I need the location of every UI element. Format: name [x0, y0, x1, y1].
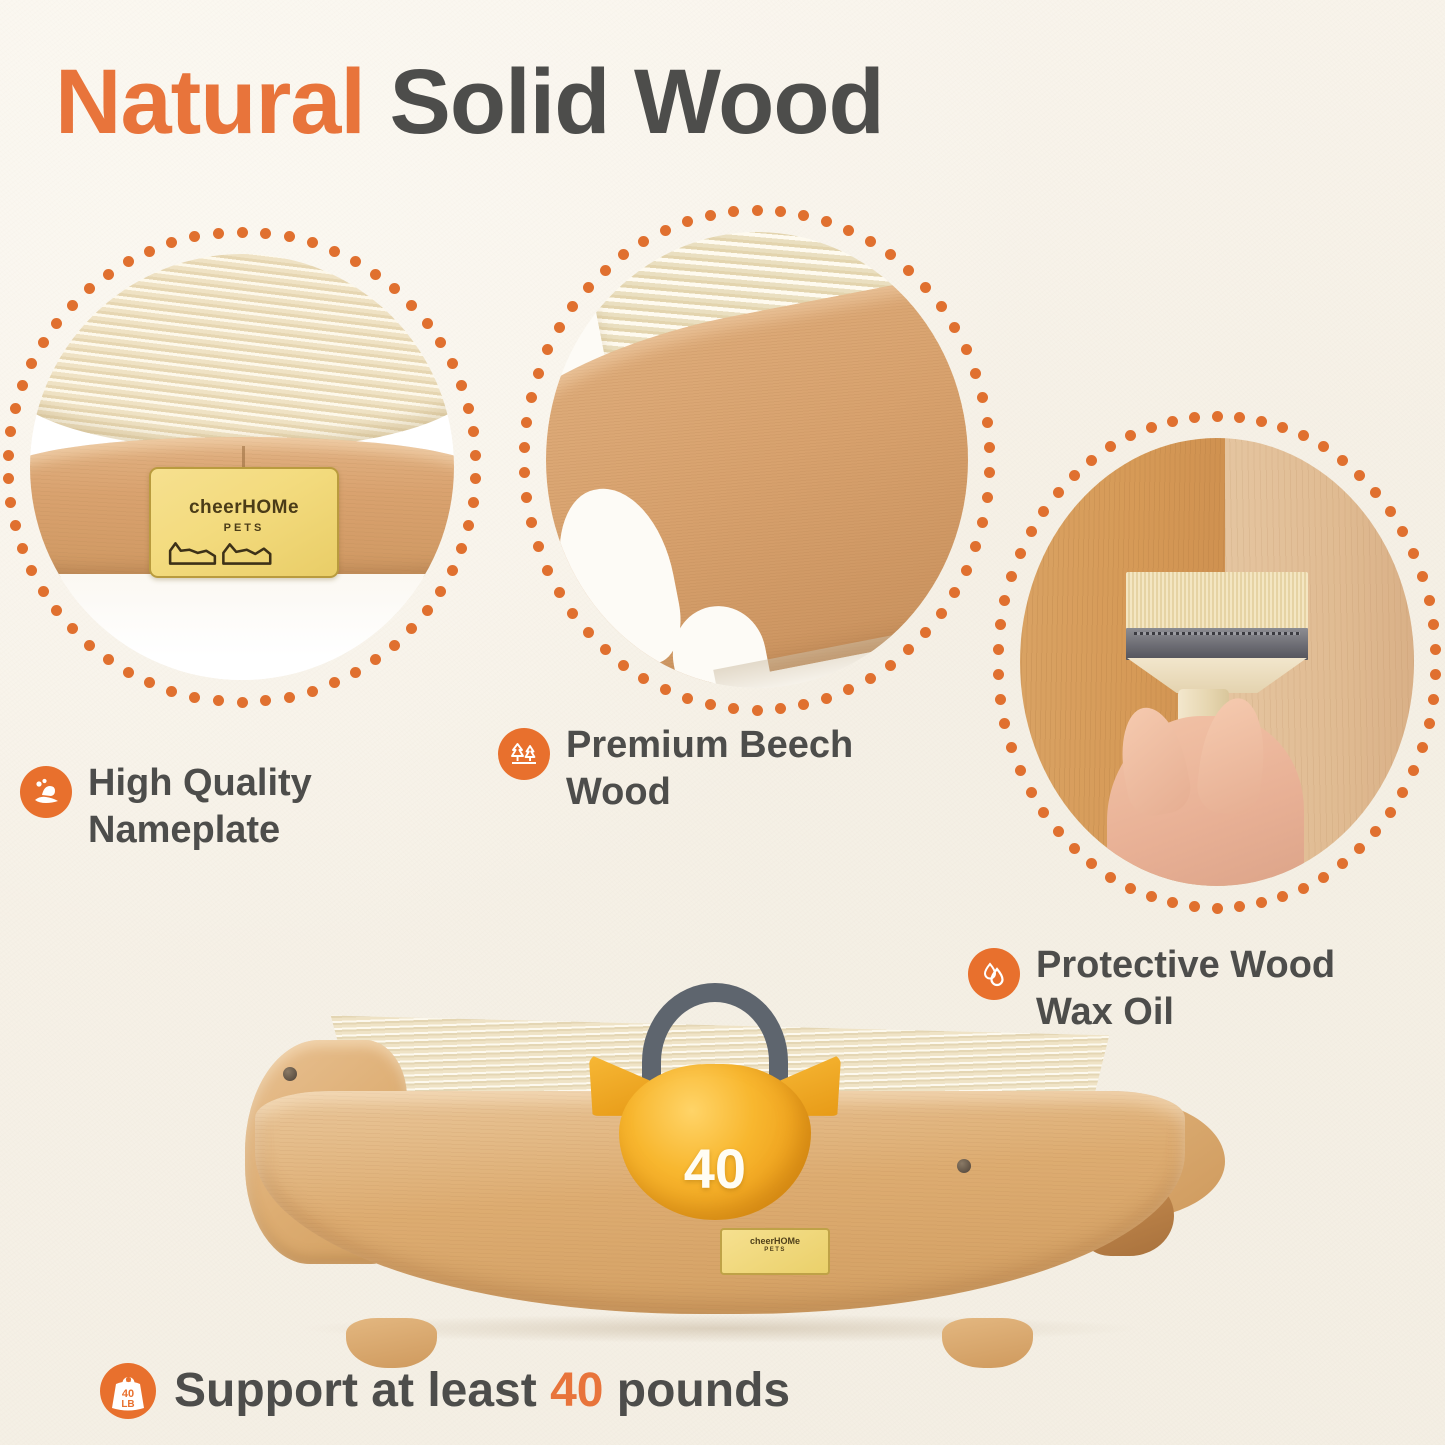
product-label-brand: cheerHOMe	[722, 1236, 828, 1246]
product-brand-label: cheerHOMe PETS	[720, 1228, 830, 1275]
feature-1-line-1: High Quality	[88, 762, 312, 804]
page-title: Natural Solid Wood	[55, 48, 1375, 156]
support-caption-text: Support at least 40 pounds	[174, 1363, 790, 1419]
product-label-sub: PETS	[722, 1247, 828, 1253]
feature-2-line-1: Premium Beech	[566, 724, 853, 766]
feature-label-2: Premium Beech Wood	[566, 722, 853, 816]
support-caption: 40 LB Support at least 40 pounds	[100, 1362, 790, 1420]
page-title-accent: Natural	[55, 51, 390, 153]
weight-icon-unit: LB	[121, 1399, 134, 1410]
badge-icon	[20, 766, 72, 818]
weight-40lb-icon: 40 LB	[100, 1362, 156, 1420]
feature-label-1: High Quality Nameplate	[88, 760, 312, 854]
kettlebell-weight-label: 40	[619, 1136, 811, 1201]
product-screw-left	[283, 1067, 297, 1081]
trees-icon	[498, 728, 550, 780]
kettlebell-body: 40	[619, 1064, 811, 1221]
feature-premium-beech-wood: Premium Beech Wood	[498, 722, 968, 816]
kettlebell: 40	[589, 983, 842, 1221]
feature-2-line-2: Wood	[566, 771, 671, 813]
caption-prefix: Support at least	[174, 1364, 550, 1417]
feature-3-line-1: Protective Wood	[1036, 944, 1335, 986]
dotted-ring-wax-oil	[998, 416, 1436, 908]
page-title-main: Solid Wood	[390, 51, 884, 153]
dotted-ring-nameplate	[8, 232, 476, 702]
caption-number: 40	[550, 1364, 603, 1417]
feature-1-line-2: Nameplate	[88, 809, 280, 851]
product-image-cat-scratcher: cheerHOMe PETS 40	[215, 990, 1225, 1350]
dotted-ring-beech-wood	[524, 210, 990, 710]
feature-high-quality-nameplate: High Quality Nameplate	[20, 760, 450, 854]
caption-suffix: pounds	[603, 1364, 790, 1417]
